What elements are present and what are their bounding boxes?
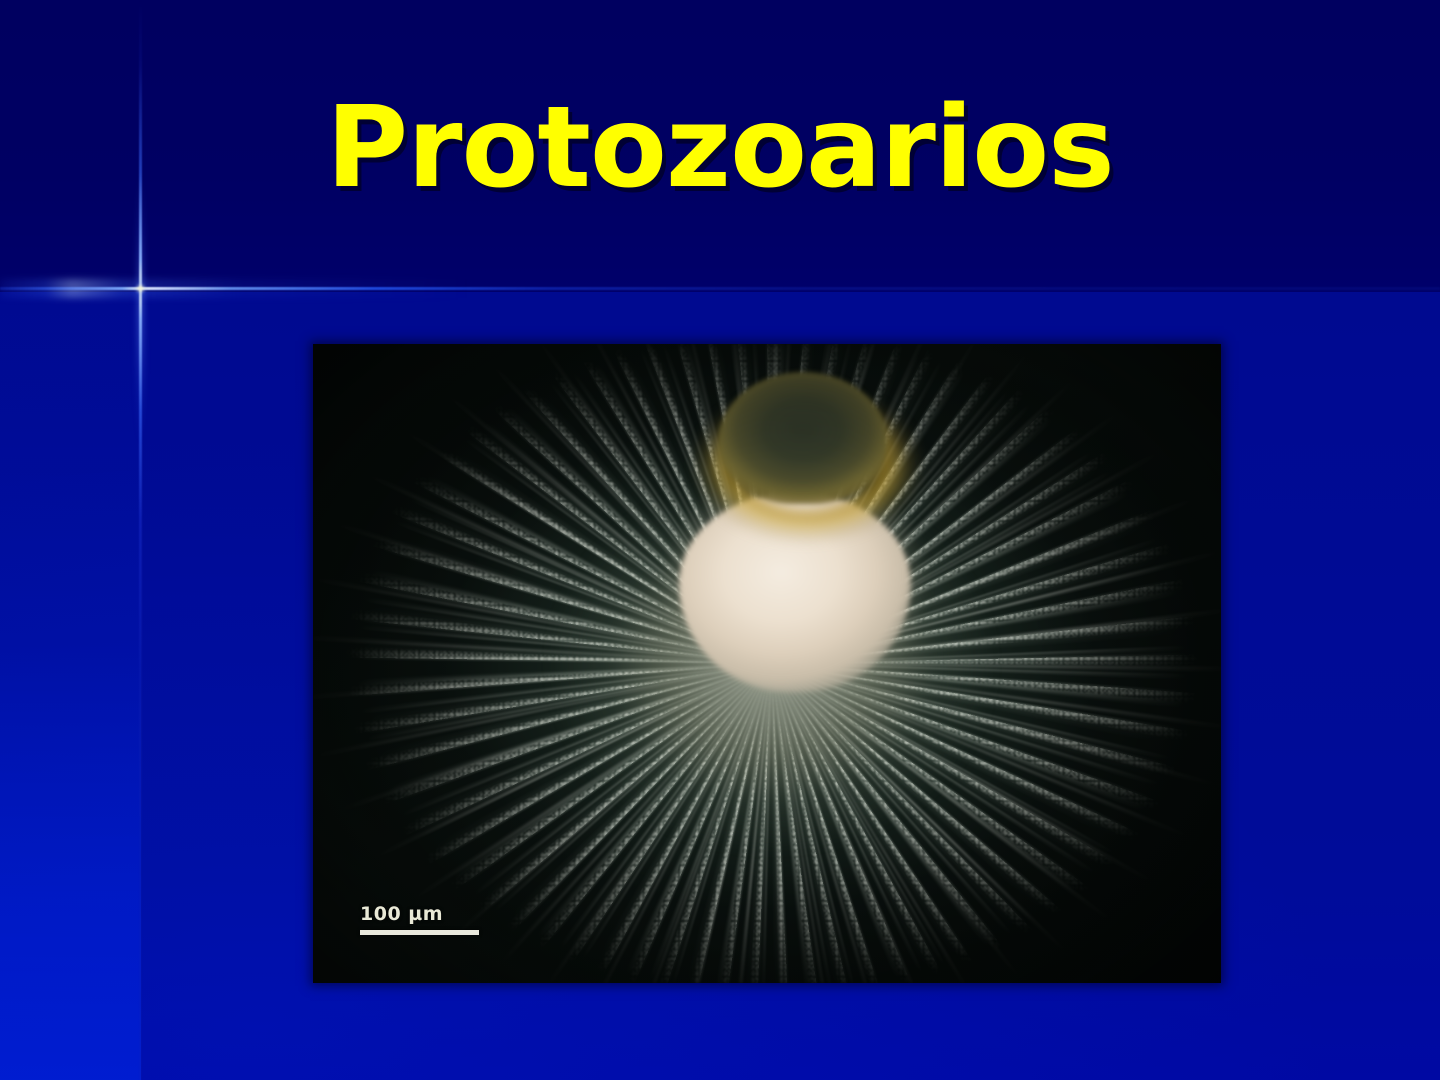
star-center-icon xyxy=(133,281,148,296)
scale-bar-label: 100 µm xyxy=(360,904,484,925)
slide-title: Protozoarios xyxy=(0,92,1440,204)
scale-bar: 100 µm xyxy=(360,904,484,935)
protozoan-micrograph: 100 µm xyxy=(313,344,1221,983)
star-horizontal-glow-icon xyxy=(0,279,760,298)
micrograph-vignette xyxy=(313,344,1221,983)
scale-bar-line xyxy=(360,930,479,935)
presentation-slide: Protozoarios 100 µm xyxy=(0,0,1440,1080)
